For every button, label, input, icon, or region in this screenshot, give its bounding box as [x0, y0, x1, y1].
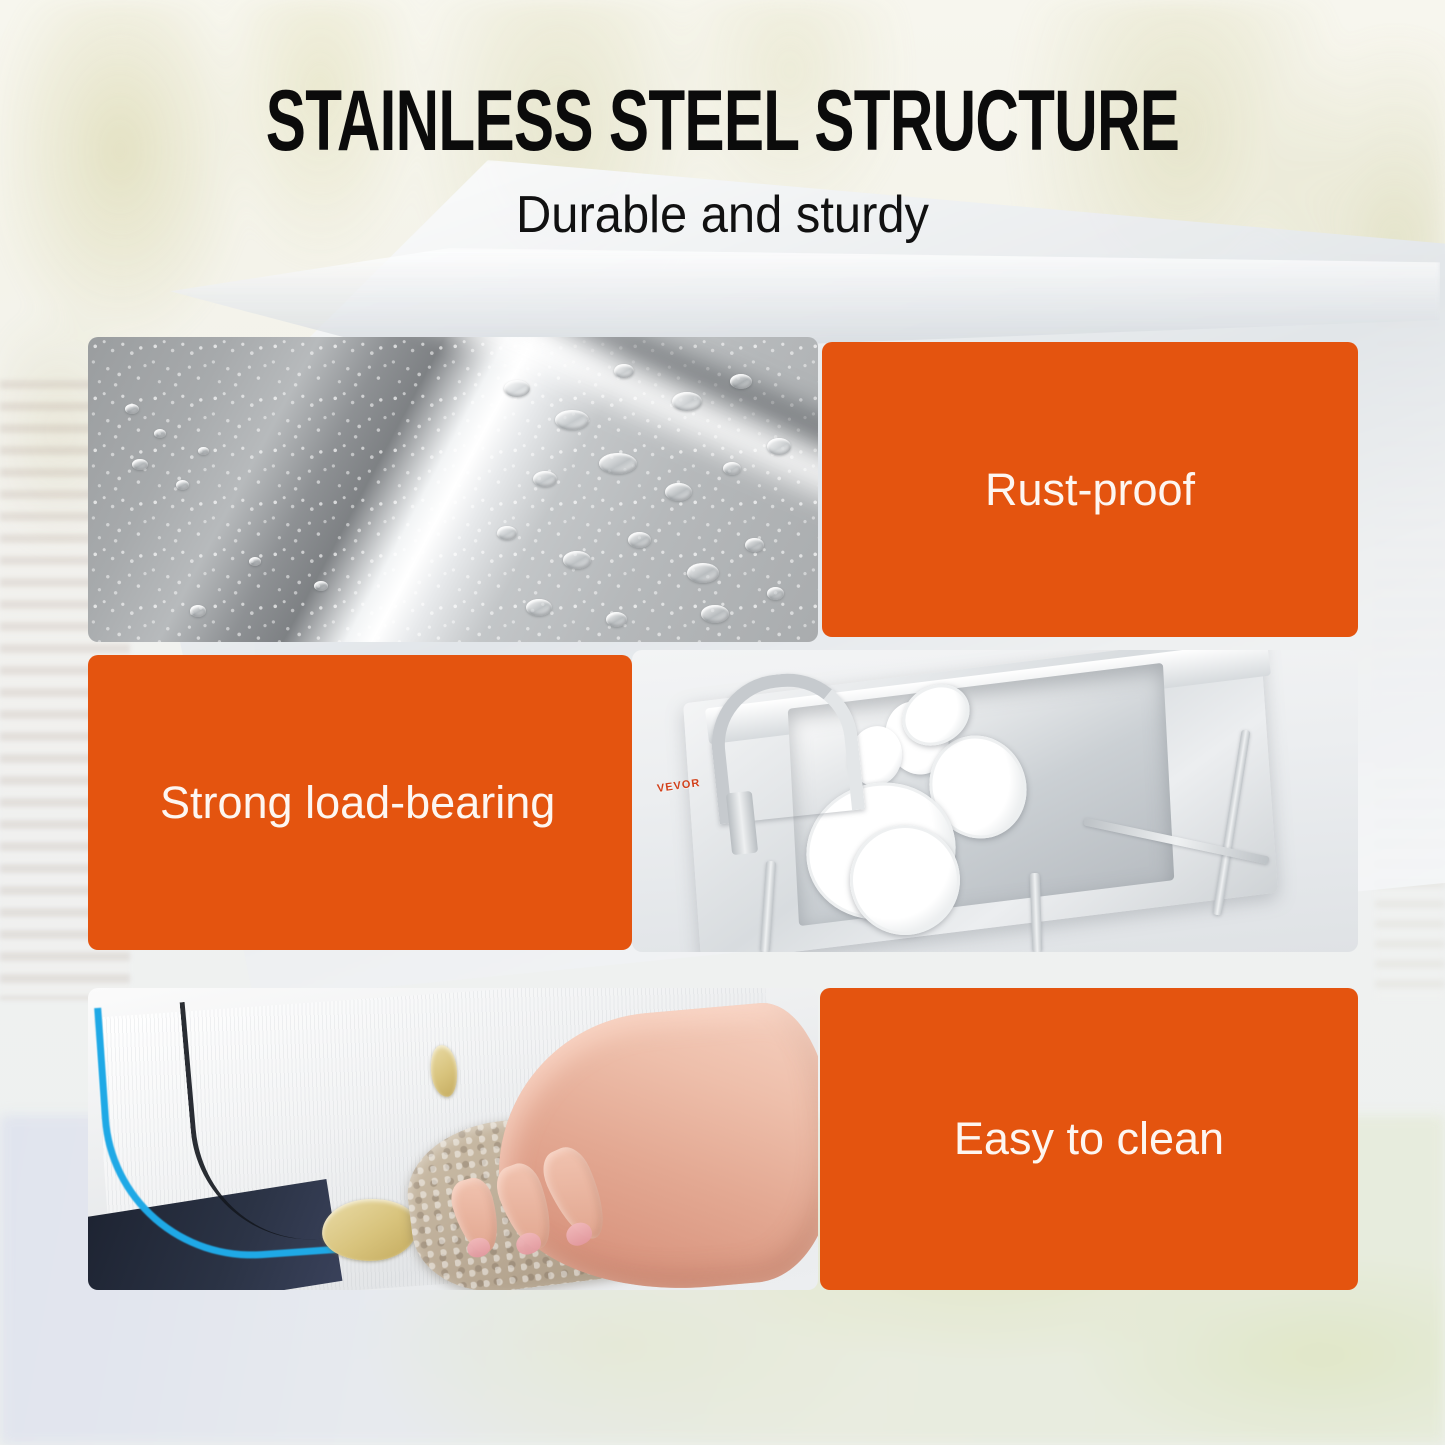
page-subtitle: Durable and sturdy	[43, 186, 1401, 244]
feature-caption-panel-easy-to-clean: Easy to clean	[820, 988, 1358, 1290]
feature-caption-panel-strong-load-bearing: Strong load-bearing	[88, 655, 632, 950]
page-title: STAINLESS STEEL STRUCTURE	[217, 78, 1229, 164]
water-droplets	[88, 337, 818, 642]
feature-image-easy-to-clean	[88, 988, 818, 1290]
feature-image-strong-load-bearing: VEVOR	[632, 650, 1358, 952]
feature-caption-strong-load-bearing: Strong load-bearing	[160, 777, 555, 829]
feature-caption-panel-rust-proof: Rust-proof	[822, 342, 1358, 637]
product-feature-graphic: STAINLESS STEEL STRUCTURE Durable and st…	[0, 0, 1445, 1445]
feature-caption-easy-to-clean: Easy to clean	[954, 1113, 1224, 1165]
feature-image-rust-proof	[88, 337, 818, 642]
feature-caption-rust-proof: Rust-proof	[985, 464, 1195, 516]
